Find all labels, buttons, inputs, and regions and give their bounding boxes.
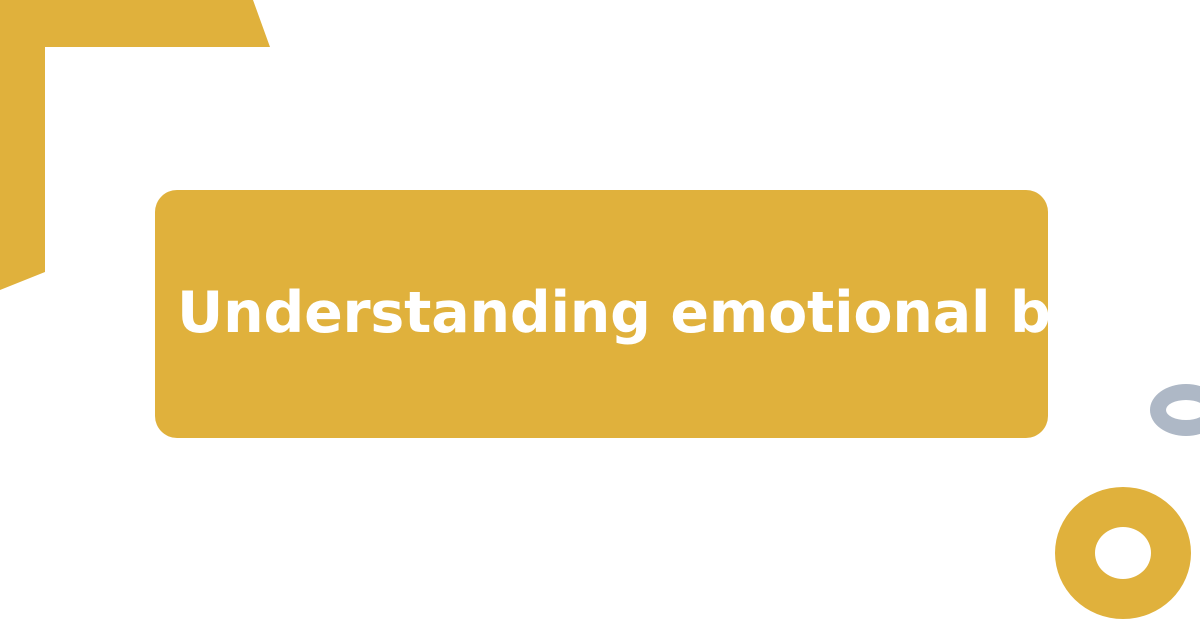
page-title: Understanding emotional branding xyxy=(177,282,1200,346)
banner-canvas: Understanding emotional branding xyxy=(0,0,1200,630)
gray-ring-icon xyxy=(1150,384,1200,436)
gold-ring-icon xyxy=(1055,487,1191,619)
title-card: Understanding emotional branding xyxy=(155,190,1048,438)
